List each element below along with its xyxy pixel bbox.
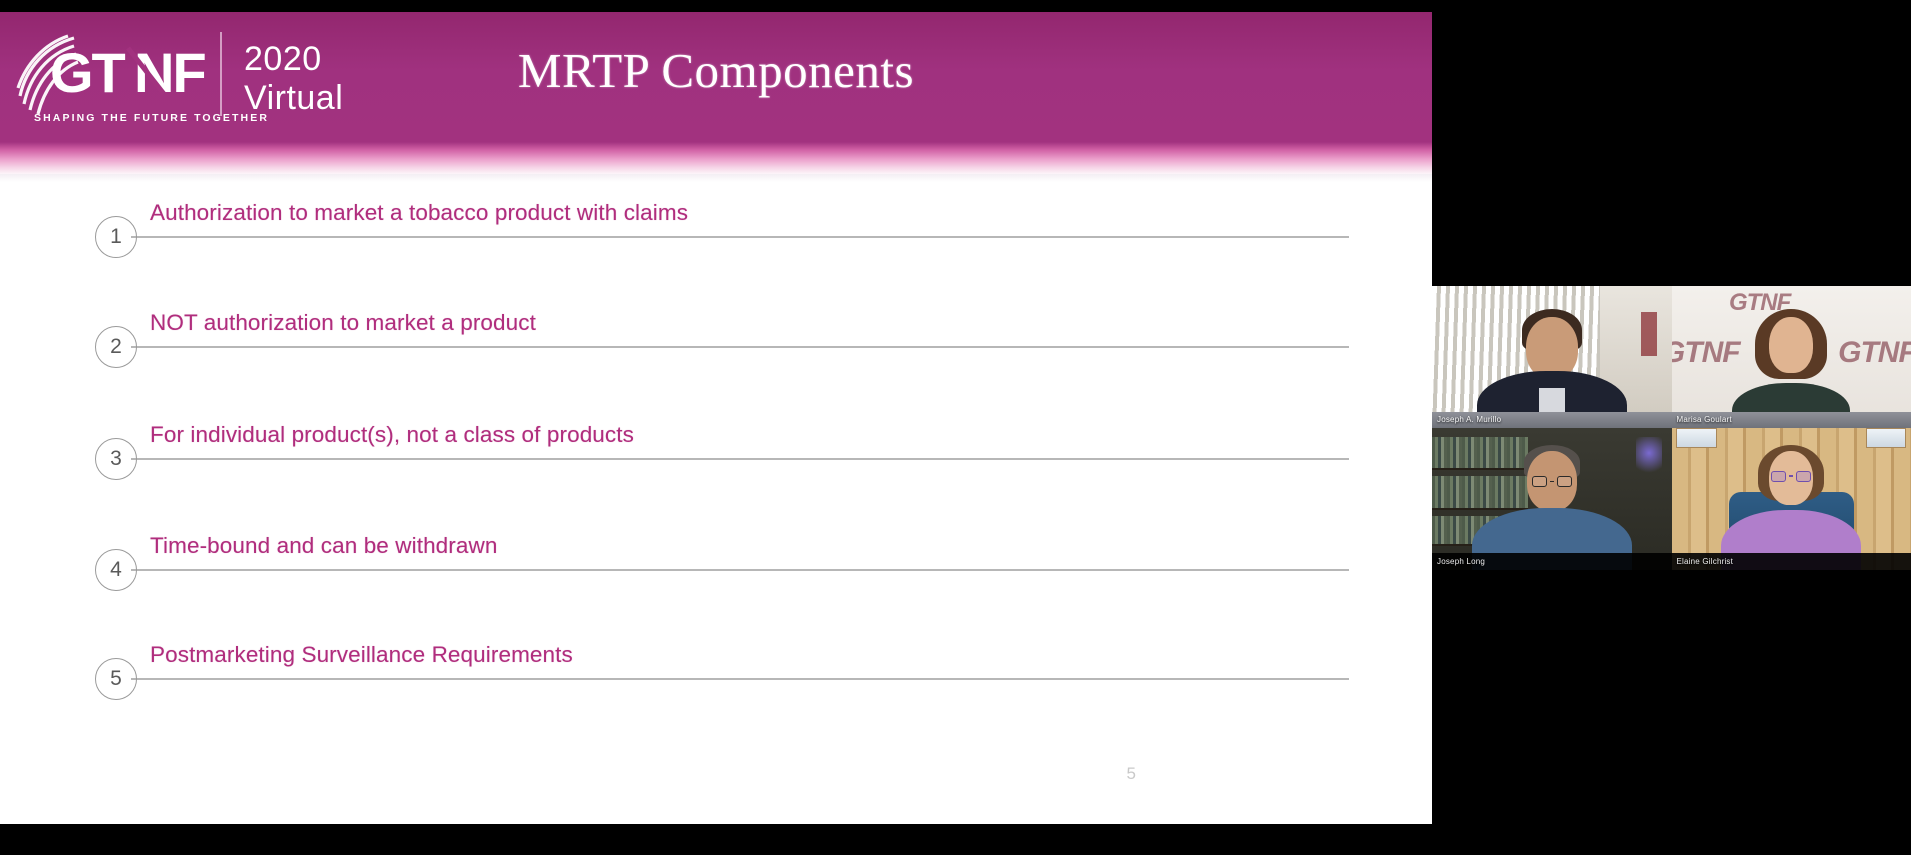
slide-header-band: GT NF SHAPING THE FUTURE TOGETHER 2020 V… (0, 12, 1432, 142)
meeting-screen: GT NF SHAPING THE FUTURE TOGETHER 2020 V… (0, 0, 1911, 855)
list-item: 3 For individual product(s), not a class… (95, 424, 1350, 476)
list-item-rule (131, 458, 1349, 460)
list-item-rule (131, 346, 1349, 348)
list-item-label: Time-bound and can be withdrawn (150, 533, 497, 559)
slide-content: 1 Authorization to market a tobacco prod… (0, 188, 1432, 788)
gtnf-watermark-icon: GTNF (1672, 336, 1740, 370)
participant-tile[interactable]: Elaine Gilchrist (1672, 428, 1911, 570)
gtnf-tagline: SHAPING THE FUTURE TOGETHER (34, 112, 269, 124)
bookshelf-row (1432, 476, 1528, 509)
glasses-bridge (1789, 475, 1793, 476)
avatar-head (1526, 317, 1578, 379)
lens-left (1771, 471, 1786, 482)
lamp-glow-icon (1636, 437, 1662, 477)
participant-name: Marisa Goulart (1677, 415, 1732, 424)
list-item-label: Authorization to market a tobacco produc… (150, 200, 688, 226)
lens-right (1557, 476, 1572, 487)
window-left (1676, 428, 1717, 448)
eyeglasses-icon (1532, 476, 1572, 487)
list-item-rule (131, 569, 1349, 571)
participant-tile[interactable]: GTNF GTNF GTNF Marisa Goulart (1672, 286, 1911, 428)
list-item-label: Postmarketing Surveillance Requirements (150, 642, 573, 668)
avatar-head (1769, 317, 1813, 373)
glasses-bridge (1550, 481, 1554, 482)
list-item: 5 Postmarketing Surveillance Requirement… (95, 644, 1350, 696)
eyeglasses-icon (1771, 471, 1811, 482)
header-gradient-band (0, 142, 1432, 176)
list-item-number: 3 (95, 438, 137, 480)
participant-name: Joseph Long (1437, 557, 1485, 566)
participant-video-grid: Joseph A. Murillo GTNF GTNF GTNF Marisa … (1432, 286, 1911, 570)
header-gradient-fade (0, 174, 1432, 182)
gtnf-watermark-icon: GTNF (1838, 336, 1911, 370)
list-item-number: 5 (95, 658, 137, 700)
list-item: 2 NOT authorization to market a product (95, 312, 1350, 364)
list-item: 1 Authorization to market a tobacco prod… (95, 202, 1350, 254)
window-right (1866, 428, 1907, 448)
lens-left (1532, 476, 1547, 487)
lens-right (1796, 471, 1811, 482)
list-item-rule (131, 236, 1349, 238)
participant-name: Elaine Gilchrist (1677, 557, 1734, 566)
shared-slide: GT NF SHAPING THE FUTURE TOGETHER 2020 V… (0, 12, 1432, 824)
list-item-label: For individual product(s), not a class o… (150, 422, 634, 448)
bookshelf-row (1432, 437, 1528, 470)
slide-page-number: 5 (1127, 764, 1136, 784)
list-item-rule (131, 678, 1349, 680)
participant-tile[interactable]: Joseph A. Murillo (1432, 286, 1672, 428)
list-item-number: 1 (95, 216, 137, 258)
tile-background-accent (1641, 312, 1657, 356)
list-item-number: 4 (95, 549, 137, 591)
participant-name: Joseph A. Murillo (1437, 415, 1501, 424)
list-item: 4 Time-bound and can be withdrawn (95, 535, 1350, 587)
participant-tile[interactable]: Joseph Long (1432, 428, 1672, 570)
list-item-label: NOT authorization to market a product (150, 310, 536, 336)
list-item-number: 2 (95, 326, 137, 368)
slide-title: MRTP Components (0, 42, 1432, 99)
